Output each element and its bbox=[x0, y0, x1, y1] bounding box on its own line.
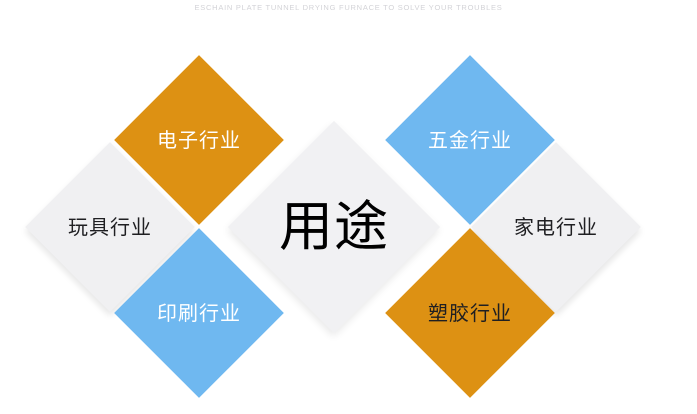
diamond-label-hardware: 五金行业 bbox=[428, 130, 512, 150]
diamond-label-printing: 印刷行业 bbox=[157, 303, 241, 323]
diamond-label-electronics: 电子行业 bbox=[157, 130, 241, 150]
tagline-text: ESCHAIN PLATE TUNNEL DRYING FURNACE TO S… bbox=[0, 3, 697, 12]
diamond-label-appliance: 家电行业 bbox=[514, 217, 598, 237]
center-label: 用途 bbox=[279, 200, 389, 254]
diamond-label-toys: 玩具行业 bbox=[68, 217, 152, 237]
diamond-label-plastic: 塑胶行业 bbox=[428, 303, 512, 323]
diagram-canvas: ESCHAIN PLATE TUNNEL DRYING FURNACE TO S… bbox=[0, 0, 697, 414]
